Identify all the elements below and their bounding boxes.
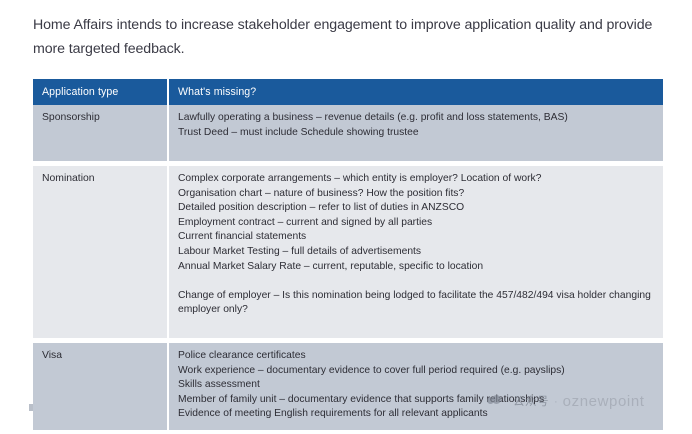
edge-artifact	[29, 404, 33, 411]
list-item: Work experience – documentary evidence t…	[178, 364, 654, 379]
table-row: Sponsorship Lawfully operating a busines…	[33, 105, 663, 161]
table-header: Application type What's missing?	[33, 79, 663, 105]
row-content-nomination: Complex corporate arrangements – which e…	[168, 166, 663, 338]
column-header-whats-missing: What's missing?	[168, 79, 663, 105]
list-item: Labour Market Testing – full details of …	[178, 245, 654, 260]
row-content-sponsorship: Lawfully operating a business – revenue …	[168, 105, 663, 161]
slide-canvas: Home Affairs intends to increase stakeho…	[0, 0, 692, 434]
list-item: Evidence of meeting English requirements…	[178, 407, 654, 422]
row-label-nomination: Nomination	[33, 166, 168, 338]
list-spacer	[178, 274, 654, 289]
table-row: Visa Police clearance certificates Work …	[33, 343, 663, 430]
list-item: Lawfully operating a business – revenue …	[178, 111, 654, 126]
row-label-sponsorship: Sponsorship	[33, 105, 168, 161]
requirements-table: Application type What's missing? Sponsor…	[33, 79, 663, 430]
list-item: Trust Deed – must include Schedule showi…	[178, 126, 654, 141]
list-item: Police clearance certificates	[178, 349, 654, 364]
list-item: Annual Market Salary Rate – current, rep…	[178, 260, 654, 275]
list-item: Organisation chart – nature of business?…	[178, 187, 654, 202]
list-item: Complex corporate arrangements – which e…	[178, 172, 654, 187]
table-row: Nomination Complex corporate arrangement…	[33, 166, 663, 338]
page-title: Home Affairs intends to increase stakeho…	[33, 13, 661, 61]
list-item: Change of employer – Is this nomination …	[178, 289, 654, 318]
table-header-row: Application type What's missing?	[33, 79, 663, 105]
row-content-visa: Police clearance certificates Work exper…	[168, 343, 663, 430]
list-item: Employment contract – current and signed…	[178, 216, 654, 231]
table-body: Sponsorship Lawfully operating a busines…	[33, 105, 663, 430]
row-label-visa: Visa	[33, 343, 168, 430]
list-item: Current financial statements	[178, 230, 654, 245]
list-item: Detailed position description – refer to…	[178, 201, 654, 216]
column-header-application-type: Application type	[33, 79, 168, 105]
list-item: Skills assessment	[178, 378, 654, 393]
list-item: Member of family unit – documentary evid…	[178, 393, 654, 408]
